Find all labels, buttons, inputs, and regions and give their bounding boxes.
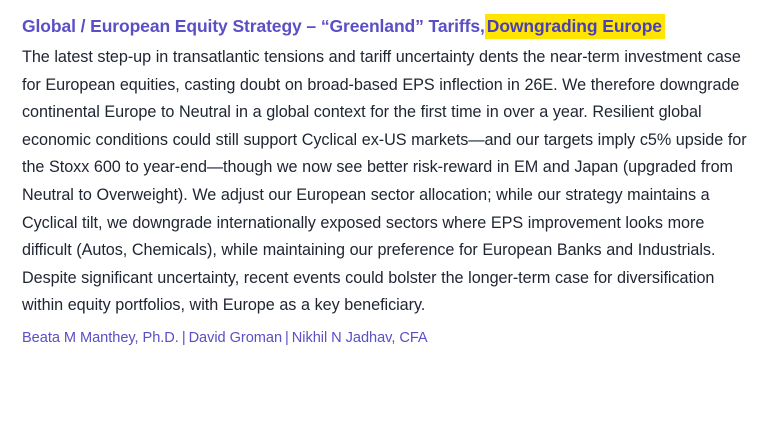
byline-separator-1: | <box>179 330 189 346</box>
note-summary-paragraph: The latest step-up in transatlantic tens… <box>22 44 766 320</box>
headline-plain-text: Global / European Equity Strategy – “Gre… <box>22 16 485 36</box>
author-byline: Beata M Manthey, Ph.D.|David Groman|Nikh… <box>22 328 766 348</box>
byline-separator-2: | <box>282 330 292 346</box>
author-link-2[interactable]: David Groman <box>189 330 282 346</box>
author-link-1[interactable]: Beata M Manthey, Ph.D. <box>22 330 179 346</box>
note-headline[interactable]: Global / European Equity Strategy – “Gre… <box>22 14 766 38</box>
headline-highlighted-text: Downgrading Europe <box>485 14 665 39</box>
author-link-3[interactable]: Nikhil N Jadhav, CFA <box>292 330 428 346</box>
research-note-card: Global / European Equity Strategy – “Gre… <box>0 0 780 438</box>
